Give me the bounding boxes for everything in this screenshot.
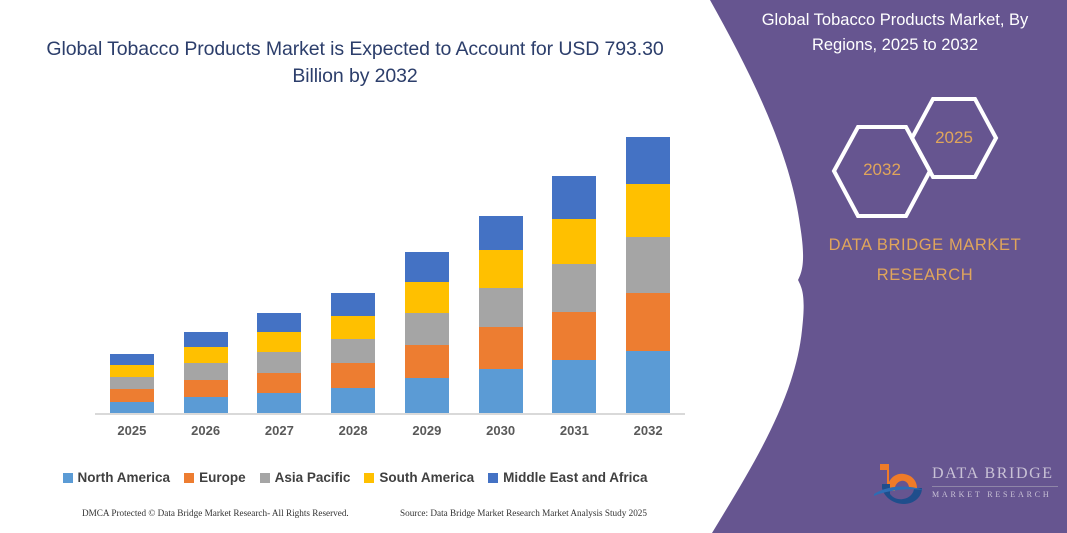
bar-segment-2025-europe [110,389,154,401]
x-axis-tick-2032: 2032 [613,423,683,438]
bar-segment-2025-south-america [110,365,154,377]
logo-title: DATA BRIDGE [932,464,1062,484]
hexagon-group: 2025 2032 [810,95,1040,220]
chart-x-axis-line [95,413,685,415]
legend-label: Europe [199,470,246,485]
bar-segment-2025-asia-pacific [110,377,154,389]
bar-segment-2031-middle-east-and-africa [552,176,596,219]
x-axis-tick-2031: 2031 [539,423,609,438]
chart-panel: Global Tobacco Products Market is Expect… [0,0,710,533]
logo-divider [932,486,1058,487]
bar-segment-2031-europe [552,312,596,360]
legend-swatch-icon [488,473,498,483]
bar-2030 [479,216,523,415]
bar-2027 [257,313,301,415]
bar-2029 [405,252,449,415]
bar-segment-2029-asia-pacific [405,313,449,345]
chart-plot-area [95,110,685,415]
bar-segment-2027-south-america [257,332,301,352]
footer: DMCA Protected © Data Bridge Market Rese… [0,508,710,530]
brand-name: DATA BRIDGE MARKET RESEARCH [790,230,1060,290]
x-axis-tick-2026: 2026 [171,423,241,438]
legend-swatch-icon [63,473,73,483]
brand-panel-title: Global Tobacco Products Market, By Regio… [740,8,1050,58]
legend-item-middle-east-and-africa[interactable]: Middle East and Africa [488,470,647,485]
bar-segment-2030-middle-east-and-africa [479,216,523,250]
x-axis-tick-2029: 2029 [392,423,462,438]
x-axis-tick-2025: 2025 [97,423,167,438]
bar-2026 [184,332,228,415]
bar-segment-2028-asia-pacific [331,339,375,363]
bar-segment-2030-north-america [479,369,523,415]
legend-swatch-icon [260,473,270,483]
legend-item-asia-pacific[interactable]: Asia Pacific [260,470,351,485]
data-bridge-logo-mark [872,460,928,506]
bar-segment-2026-middle-east-and-africa [184,332,228,347]
legend-swatch-icon [364,473,374,483]
bar-segment-2029-middle-east-and-africa [405,252,449,282]
bar-segment-2032-middle-east-and-africa [626,137,670,184]
bar-segment-2027-asia-pacific [257,352,301,372]
data-bridge-logo: DATA BRIDGE MARKET RESEARCH [872,460,1062,512]
x-axis-tick-2027: 2027 [244,423,314,438]
legend-label: Asia Pacific [275,470,351,485]
bar-segment-2028-europe [331,363,375,388]
bar-segment-2026-europe [184,380,228,397]
bar-segment-2027-middle-east-and-africa [257,313,301,332]
chart-x-axis-labels: 20252026202720282029203020312032 [95,423,685,445]
footer-source: Source: Data Bridge Market Research Mark… [400,508,647,518]
bar-segment-2029-europe [405,345,449,378]
bar-segment-2028-middle-east-and-africa [331,293,375,316]
data-bridge-logo-text: DATA BRIDGE MARKET RESEARCH [932,464,1062,501]
bar-segment-2031-asia-pacific [552,264,596,312]
hexagon-2032-label: 2032 [830,160,934,180]
legend-item-north-america[interactable]: North America [63,470,171,485]
bar-segment-2029-north-america [405,378,449,415]
bar-segment-2030-asia-pacific [479,288,523,328]
bar-segment-2032-europe [626,293,670,351]
legend-label: Middle East and Africa [503,470,647,485]
legend-swatch-icon [184,473,194,483]
bar-segment-2032-south-america [626,184,670,237]
bar-segment-2031-south-america [552,219,596,264]
legend-item-south-america[interactable]: South America [364,470,474,485]
page-title: Global Tobacco Products Market is Expect… [45,36,665,90]
bar-2025 [110,354,154,415]
bar-segment-2032-asia-pacific [626,237,670,293]
bar-segment-2026-south-america [184,347,228,364]
bar-segment-2030-south-america [479,250,523,288]
bar-segment-2028-south-america [331,316,375,339]
bar-segment-2027-europe [257,373,301,393]
x-axis-tick-2030: 2030 [466,423,536,438]
legend-item-europe[interactable]: Europe [184,470,246,485]
logo-subtitle: MARKET RESEARCH [932,489,1062,501]
footer-copyright: DMCA Protected © Data Bridge Market Rese… [82,508,349,518]
bar-segment-2027-north-america [257,393,301,415]
bar-segment-2028-north-america [331,388,375,415]
bar-segment-2029-south-america [405,282,449,313]
legend-label: North America [78,470,171,485]
bar-2028 [331,293,375,415]
legend-label: South America [379,470,474,485]
bar-segment-2032-north-america [626,351,670,415]
x-axis-tick-2028: 2028 [318,423,388,438]
bar-2031 [552,176,596,415]
chart-legend: North AmericaEuropeAsia PacificSouth Ame… [0,470,710,485]
bar-segment-2025-middle-east-and-africa [110,354,154,365]
bar-2032 [626,137,670,415]
bar-segment-2031-north-america [552,360,596,415]
bar-segment-2026-asia-pacific [184,363,228,380]
bar-segment-2030-europe [479,327,523,369]
